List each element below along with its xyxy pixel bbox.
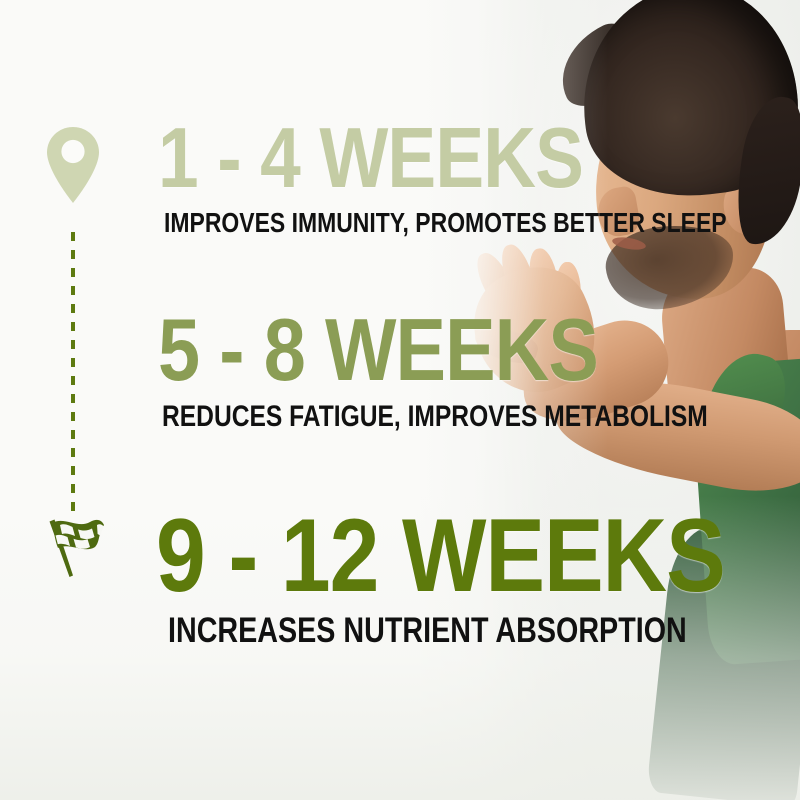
timeline-stage-1: 1 - 4 WEEKS IMPROVES IMMUNITY, PROMOTES … — [158, 122, 800, 237]
infographic-canvas: 1 - 4 WEEKS IMPROVES IMMUNITY, PROMOTES … — [0, 0, 800, 800]
stage-2-subtitle: REDUCES FATIGUE, IMPROVES METABOLISM — [162, 402, 708, 432]
timeline-stage-2: 5 - 8 WEEKS REDUCES FATIGUE, IMPROVES ME… — [158, 312, 800, 432]
checkered-flag-icon — [40, 512, 112, 584]
timeline-stage-3: 9 - 12 WEEKS INCREASES NUTRIENT ABSORPTI… — [156, 512, 800, 648]
stage-3-subtitle: INCREASES NUTRIENT ABSORPTION — [168, 613, 700, 648]
timeline-dashed-rail — [71, 232, 75, 512]
stage-1-heading: 1 - 4 WEEKS — [158, 122, 753, 195]
stage-2-heading: 5 - 8 WEEKS — [158, 312, 734, 388]
hair-strand — [545, 13, 658, 116]
stage-3-heading: 9 - 12 WEEKS — [156, 512, 725, 601]
map-pin-icon — [44, 126, 102, 204]
stage-1-subtitle: IMPROVES IMMUNITY, PROMOTES BETTER SLEEP — [164, 209, 727, 237]
